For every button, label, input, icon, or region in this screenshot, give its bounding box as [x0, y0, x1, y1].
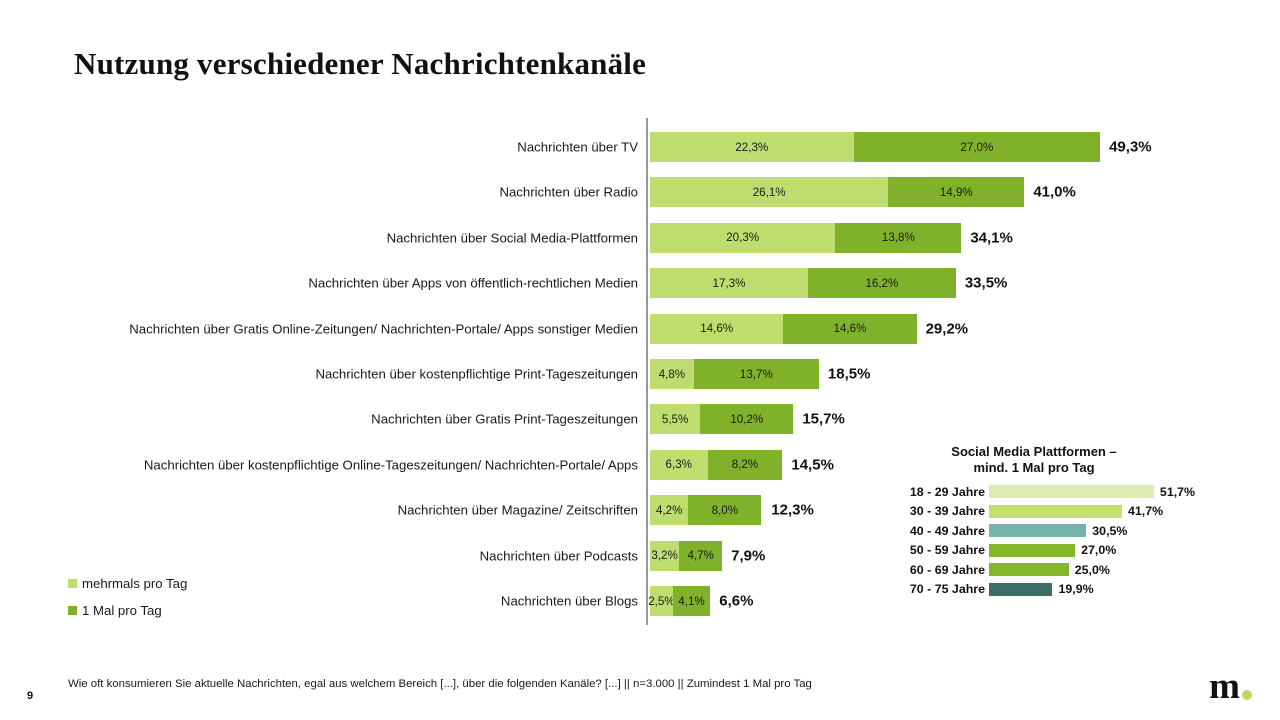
bar-segment-value: 5,5% — [662, 413, 688, 426]
bar-total-value: 41,0% — [1033, 184, 1076, 201]
category-label: Nachrichten über Social Media-Plattforme… — [387, 230, 638, 245]
bar-total-value: 34,1% — [970, 229, 1013, 246]
inset-bar — [989, 505, 1122, 518]
bar-segment-value: 2,5% — [648, 595, 674, 608]
bar-segment-mehrmals: 3,2% — [650, 541, 679, 571]
inset-row: 30 - 39 Jahre41,7% — [885, 502, 1215, 522]
bar-segment-einmal: 4,7% — [679, 541, 722, 571]
logo-dot-icon — [1242, 690, 1252, 700]
bar-segment-value: 4,2% — [656, 504, 682, 517]
inset-bar-chart: Social Media Plattformen – mind. 1 Mal p… — [885, 444, 1215, 599]
inset-category-label: 50 - 59 Jahre — [885, 543, 985, 557]
chart-row: Nachrichten über Radio26,1%14,9%41,0% — [0, 177, 1280, 207]
inset-bar — [989, 563, 1069, 576]
bar-segment-einmal: 14,6% — [783, 314, 916, 344]
bar-segment-value: 3,2% — [651, 549, 677, 562]
inset-title-line2: mind. 1 Mal pro Tag — [895, 460, 1173, 476]
inset-row: 50 - 59 Jahre27,0% — [885, 541, 1215, 561]
inset-bar — [989, 544, 1075, 557]
bar-segment-einmal: 4,1% — [673, 586, 710, 616]
inset-category-label: 18 - 29 Jahre — [885, 485, 985, 499]
bar-segment-value: 27,0% — [960, 141, 993, 154]
bar-segment-einmal: 13,7% — [694, 359, 819, 389]
bar-segment-value: 13,8% — [882, 231, 915, 244]
bar-segment-value: 22,3% — [735, 141, 768, 154]
inset-category-label: 40 - 49 Jahre — [885, 524, 985, 538]
bar-segment-value: 10,2% — [730, 413, 763, 426]
bar-segment-mehrmals: 4,2% — [650, 495, 688, 525]
bar-segment-value: 14,6% — [834, 322, 867, 335]
stacked-bar: 20,3%13,8% — [650, 223, 961, 253]
stacked-bar: 6,3%8,2% — [650, 450, 782, 480]
inset-bar — [989, 524, 1086, 537]
inset-bar-value: 51,7% — [1160, 485, 1195, 499]
bar-segment-einmal: 13,8% — [835, 223, 961, 253]
chart-row: Nachrichten über Gratis Print-Tageszeitu… — [0, 404, 1280, 434]
legend-swatch-icon — [68, 579, 77, 588]
category-label: Nachrichten über kostenpflichtige Online… — [144, 457, 638, 472]
slide-number: 9 — [27, 690, 33, 702]
bar-segment-mehrmals: 17,3% — [650, 268, 808, 298]
stacked-bar: 14,6%14,6% — [650, 314, 917, 344]
inset-category-label: 70 - 75 Jahre — [885, 582, 985, 596]
bar-segment-value: 13,7% — [740, 368, 773, 381]
inset-category-label: 60 - 69 Jahre — [885, 563, 985, 577]
inset-row: 70 - 75 Jahre19,9% — [885, 580, 1215, 600]
bar-total-value: 18,5% — [828, 366, 871, 383]
chart-row: Nachrichten über TV22,3%27,0%49,3% — [0, 132, 1280, 162]
legend-swatch-icon — [68, 606, 77, 615]
chart-row: Nachrichten über Apps von öffentlich-rec… — [0, 268, 1280, 298]
bar-segment-value: 8,0% — [712, 504, 738, 517]
bar-segment-value: 4,1% — [678, 595, 704, 608]
category-label: Nachrichten über TV — [517, 140, 638, 155]
category-label: Nachrichten über kostenpflichtige Print-… — [315, 367, 638, 382]
category-label: Nachrichten über Radio — [499, 185, 638, 200]
legend-item-mehrmals: mehrmals pro Tag — [68, 576, 187, 591]
bar-segment-mehrmals: 2,5% — [650, 586, 673, 616]
inset-row: 18 - 29 Jahre51,7% — [885, 482, 1215, 502]
chart-row: Nachrichten über kostenpflichtige Print-… — [0, 359, 1280, 389]
stacked-bar: 4,8%13,7% — [650, 359, 819, 389]
stacked-bar: 22,3%27,0% — [650, 132, 1100, 162]
bar-segment-einmal: 8,2% — [708, 450, 783, 480]
stacked-bar: 2,5%4,1% — [650, 586, 710, 616]
bar-total-value: 12,3% — [771, 502, 814, 519]
inset-chart-title: Social Media Plattformen – mind. 1 Mal p… — [895, 444, 1173, 476]
bar-segment-einmal: 27,0% — [854, 132, 1101, 162]
stacked-bar: 5,5%10,2% — [650, 404, 793, 434]
bar-segment-mehrmals: 4,8% — [650, 359, 694, 389]
bar-segment-einmal: 16,2% — [808, 268, 956, 298]
bar-segment-value: 16,2% — [865, 277, 898, 290]
bar-segment-mehrmals: 22,3% — [650, 132, 854, 162]
bar-total-value: 6,6% — [719, 593, 753, 610]
category-label: Nachrichten über Podcasts — [480, 548, 638, 563]
inset-category-label: 30 - 39 Jahre — [885, 504, 985, 518]
stacked-bar: 17,3%16,2% — [650, 268, 956, 298]
inset-bar-value: 30,5% — [1092, 524, 1127, 538]
bar-total-value: 33,5% — [965, 275, 1008, 292]
inset-row: 40 - 49 Jahre30,5% — [885, 521, 1215, 541]
legend-label: mehrmals pro Tag — [82, 576, 187, 591]
category-label: Nachrichten über Magazine/ Zeitschriften — [398, 503, 638, 518]
bar-segment-einmal: 8,0% — [688, 495, 761, 525]
bar-segment-einmal: 14,9% — [888, 177, 1024, 207]
legend-label: 1 Mal pro Tag — [82, 603, 162, 618]
bar-segment-mehrmals: 14,6% — [650, 314, 783, 344]
inset-bar-value: 19,9% — [1058, 582, 1093, 596]
category-label: Nachrichten über Gratis Print-Tageszeitu… — [371, 412, 638, 427]
bar-segment-value: 8,2% — [732, 458, 758, 471]
category-label: Nachrichten über Apps von öffentlich-rec… — [308, 276, 638, 291]
category-label: Nachrichten über Blogs — [501, 594, 638, 609]
bar-segment-einmal: 10,2% — [700, 404, 793, 434]
inset-bar — [989, 485, 1154, 498]
bar-total-value: 7,9% — [731, 547, 765, 564]
main-bar-chart: Nachrichten über TV22,3%27,0%49,3%Nachri… — [0, 0, 1280, 720]
bar-segment-mehrmals: 20,3% — [650, 223, 835, 253]
category-label: Nachrichten über Gratis Online-Zeitungen… — [129, 321, 638, 336]
inset-row: 60 - 69 Jahre25,0% — [885, 560, 1215, 580]
bar-segment-value: 20,3% — [726, 231, 759, 244]
bar-total-value: 14,5% — [791, 456, 834, 473]
bar-segment-value: 6,3% — [666, 458, 692, 471]
slide: Nutzung verschiedener Nachrichtenkanäle … — [0, 0, 1280, 720]
chart-row: Nachrichten über Social Media-Plattforme… — [0, 223, 1280, 253]
bar-segment-value: 14,9% — [940, 186, 973, 199]
stacked-bar: 26,1%14,9% — [650, 177, 1024, 207]
legend-item-einmal: 1 Mal pro Tag — [68, 603, 187, 618]
bar-segment-mehrmals: 5,5% — [650, 404, 700, 434]
footer-note: Wie oft konsumieren Sie aktuelle Nachric… — [68, 678, 812, 690]
logo-letter: m — [1209, 672, 1240, 702]
bar-segment-mehrmals: 6,3% — [650, 450, 708, 480]
bar-total-value: 29,2% — [926, 320, 969, 337]
bar-segment-value: 4,8% — [659, 368, 685, 381]
bar-segment-value: 26,1% — [753, 186, 786, 199]
bar-segment-mehrmals: 26,1% — [650, 177, 888, 207]
bar-segment-value: 4,7% — [687, 549, 713, 562]
stacked-bar: 3,2%4,7% — [650, 541, 722, 571]
inset-bar-value: 41,7% — [1128, 504, 1163, 518]
inset-bar-value: 25,0% — [1075, 563, 1110, 577]
stacked-bar: 4,2%8,0% — [650, 495, 761, 525]
inset-bar — [989, 583, 1052, 596]
bar-total-value: 49,3% — [1109, 139, 1152, 156]
bar-segment-value: 17,3% — [713, 277, 746, 290]
brand-logo: m — [1209, 672, 1252, 702]
chart-row: Nachrichten über Gratis Online-Zeitungen… — [0, 314, 1280, 344]
bar-segment-value: 14,6% — [700, 322, 733, 335]
inset-bar-value: 27,0% — [1081, 543, 1116, 557]
bar-total-value: 15,7% — [802, 411, 845, 428]
inset-title-line1: Social Media Plattformen – — [895, 444, 1173, 460]
chart-legend: mehrmals pro Tag 1 Mal pro Tag — [68, 576, 187, 630]
